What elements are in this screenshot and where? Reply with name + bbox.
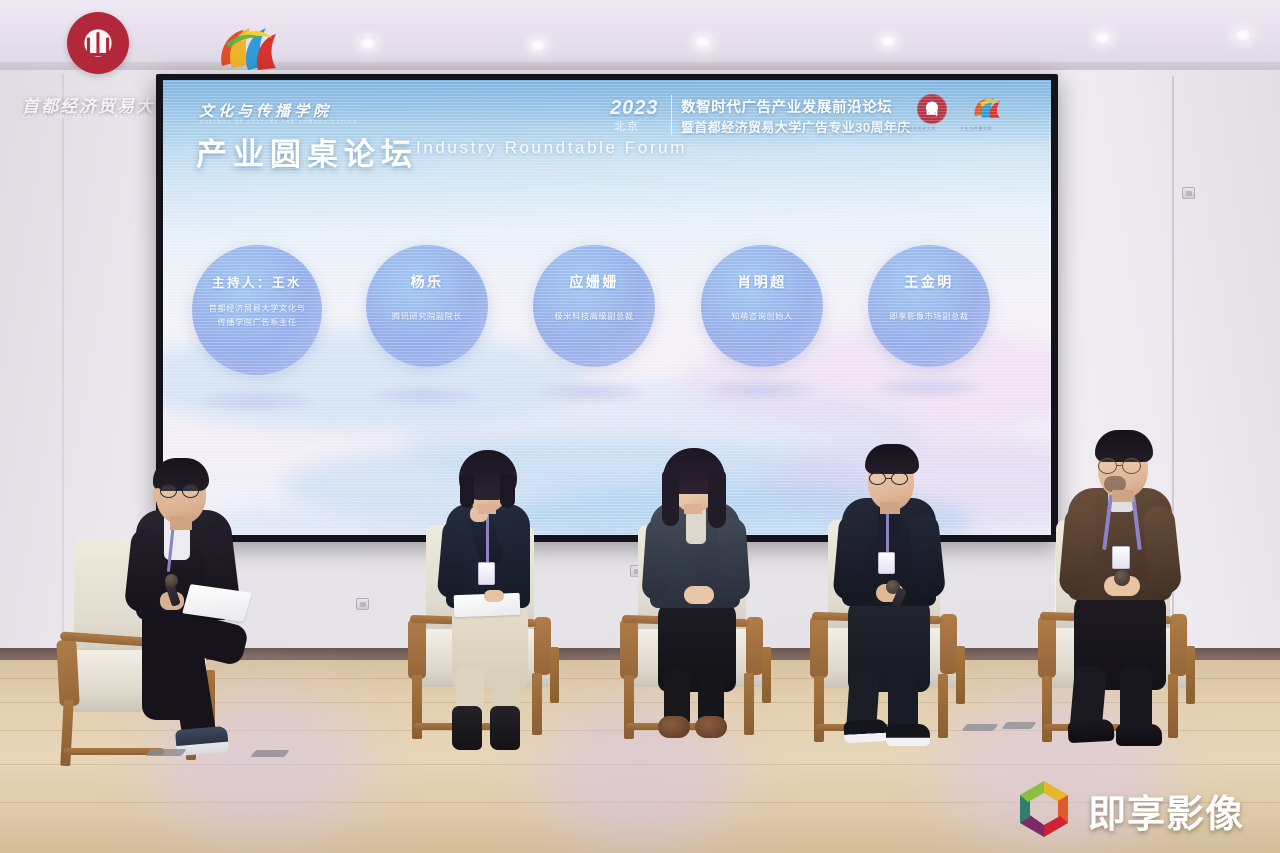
neck [684, 504, 702, 514]
university-emblem-small-caption: 首都经济贸易大学 [899, 126, 936, 132]
hall-university-emblem: 山 [67, 12, 129, 74]
arm [641, 517, 675, 601]
neck [880, 502, 900, 514]
bubble-reflection [201, 390, 313, 412]
panelist-role-line: 首都经济贸易大学文化与 [183, 302, 331, 316]
panelist-name: 应姗姗 [533, 272, 655, 292]
forum-title-cn: 产业圆桌论坛 [196, 129, 418, 174]
name-badge [1112, 546, 1130, 569]
microphone-head [1114, 570, 1130, 586]
forum-title-en: Industry Roundtable Forum [416, 138, 687, 158]
college-emblem-small [971, 96, 1003, 122]
panelist-bubble [366, 245, 488, 367]
panelist-role-line: 即享影像市场副总裁 [859, 310, 999, 324]
floor-cable-plate [250, 750, 289, 757]
recessed-downlight [530, 40, 546, 51]
panelist-bubble [868, 245, 990, 367]
panelist-role: 知萌咨询创始人 [693, 310, 831, 324]
recessed-downlight [1235, 30, 1251, 41]
hair [865, 444, 919, 474]
recessed-downlight [880, 36, 896, 47]
panelist-name: 王金明 [868, 272, 990, 292]
recessed-downlight [360, 38, 376, 49]
panelist-role: 首都经济贸易大学文化与 传播学院广告系主任 [183, 302, 331, 331]
fuzzy-slipper [658, 716, 690, 738]
fuzzy-slipper [695, 716, 727, 738]
wall-outlet[interactable] [1182, 187, 1195, 199]
sneaker [886, 724, 930, 746]
leather-shoe [1067, 719, 1114, 743]
event-year: 2023 [610, 97, 659, 120]
recessed-downlight [1095, 33, 1111, 44]
hand [484, 590, 504, 602]
bubble-reflection [875, 378, 981, 398]
name-badge [878, 552, 895, 574]
hair [460, 474, 474, 508]
event-city: 北京 [614, 118, 640, 134]
panelist-bubble [533, 245, 655, 367]
panelist-role-line: 传播学院广告系主任 [183, 316, 331, 330]
hair [662, 470, 679, 526]
name-badge [478, 562, 495, 585]
colorful-phoenix-emblem [212, 22, 284, 76]
bubble-reflection [539, 382, 645, 402]
recessed-downlight [695, 37, 711, 48]
hair [500, 474, 515, 508]
arm [717, 517, 751, 601]
panelist-role-line: 知萌咨询创始人 [693, 310, 831, 324]
boot [452, 706, 482, 750]
panelist-role-line: 极米科技高级副总裁 [523, 310, 665, 324]
leather-shoe [1116, 724, 1162, 746]
panelist-role: 极米科技高级副总裁 [523, 310, 665, 324]
header-divider [671, 95, 672, 135]
screenshot-root: 山 首都经济贸易大学 CAPITAL UNIVERSITY OF ECONOMI… [0, 0, 1280, 853]
neck [1112, 490, 1134, 502]
neck [478, 504, 496, 514]
panelist-role-line: 腾讯研究院副院长 [359, 310, 495, 324]
panelist-4 [832, 440, 992, 750]
event-line-1: 数智时代广告产业发展前沿论坛 [681, 96, 892, 117]
college-emblem-small-caption: 文化与传播学院 [960, 126, 992, 132]
panelist-bubble [701, 245, 823, 367]
panelist-role: 腾讯研究院副院长 [359, 310, 495, 324]
hair [708, 470, 726, 528]
brand-watermark: 即享影像 [1012, 777, 1274, 843]
panelist-3 [640, 448, 790, 748]
boot [490, 706, 520, 750]
panelist-5 [1060, 428, 1230, 748]
panelist-2-speaking [434, 448, 584, 748]
eyeglasses [868, 472, 916, 485]
floor-cable-plate [145, 749, 186, 756]
hands-clasped [684, 586, 714, 604]
sneaker [843, 719, 888, 743]
panelist-name: 主持人：王水 [192, 272, 322, 291]
university-emblem-small: 山 [917, 94, 947, 124]
wall-outlet[interactable] [356, 598, 369, 610]
panelist-name: 肖明超 [701, 272, 823, 292]
hexagon-ring-logo [1012, 777, 1076, 841]
neck [170, 516, 192, 530]
college-name-cn: 文化与传播学院 [199, 100, 332, 121]
event-line-2: 暨首都经济贸易大学广告专业30周年庆 [681, 117, 911, 136]
eyeglasses [158, 484, 206, 498]
microphone-head [165, 574, 178, 587]
panelist-1-moderator [120, 450, 300, 770]
brand-name: 即享影像 [1088, 783, 1244, 838]
bubble-reflection [708, 380, 814, 400]
bubble-reflection [371, 385, 479, 406]
eyeglasses [1097, 458, 1149, 474]
floor-cable-plate [961, 724, 998, 731]
panelist-name: 杨乐 [366, 272, 488, 292]
college-name-en: COLLEGE OF CULTURE AND COMMUNICATION [200, 119, 357, 124]
floor-cable-plate [1001, 722, 1036, 729]
